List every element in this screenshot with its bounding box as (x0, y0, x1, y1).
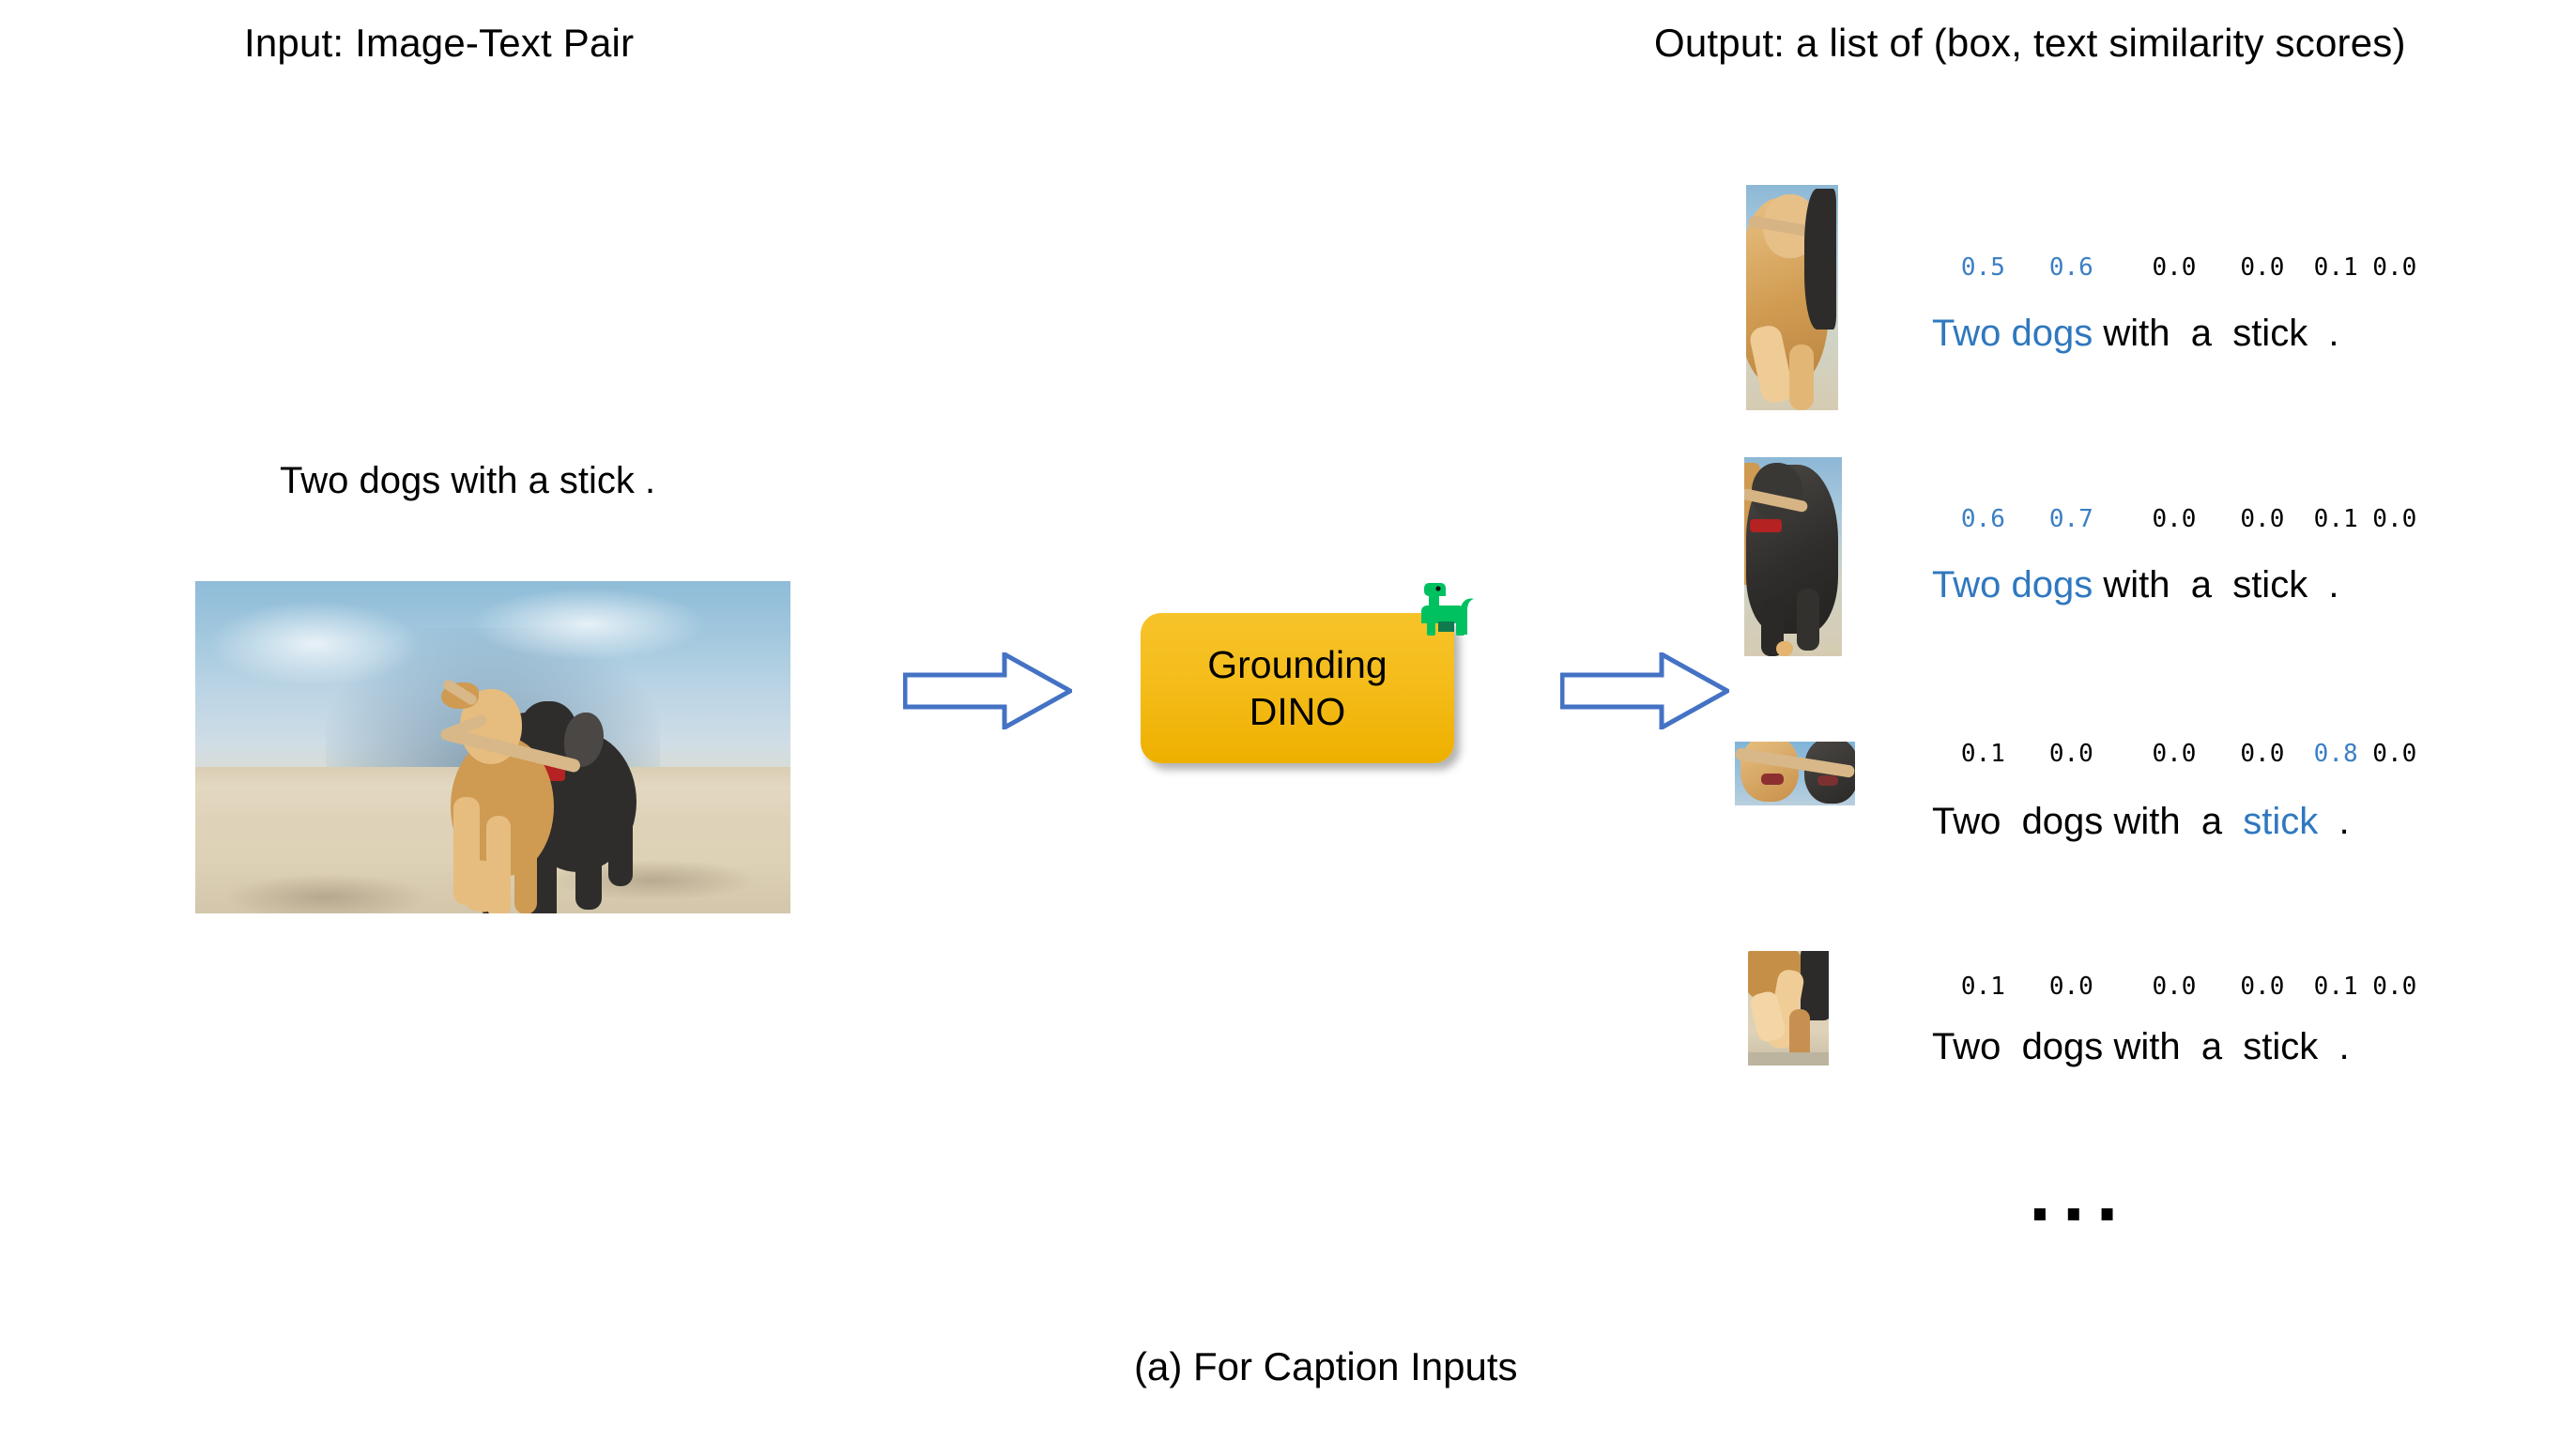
token: with (2113, 1026, 2180, 1067)
token: a (2191, 564, 2212, 606)
row-tokens: Two dogs with a stick . (1870, 270, 2339, 397)
row-tokens: Two dogs with a stick . (1870, 984, 2350, 1111)
token: dogs (2022, 801, 2104, 842)
token: stick (2243, 1026, 2318, 1067)
score-cell: 0.0 (2372, 505, 2416, 533)
token: Two (1932, 313, 2001, 354)
token: a (2201, 801, 2222, 842)
token: Two (1932, 1026, 2001, 1067)
token: dogs (2022, 1026, 2104, 1067)
box-crop-thumbnail[interactable] (1744, 457, 1842, 656)
token: stick (2232, 564, 2308, 606)
token: Two (1932, 801, 2001, 842)
token: . (2339, 801, 2350, 842)
model-name-line2: DINO (1250, 688, 1346, 735)
token: with (2103, 564, 2170, 606)
input-image (195, 581, 790, 913)
score-cell: 0.0 (2372, 253, 2416, 282)
model-name-line1: Grounding (1207, 641, 1387, 688)
arrow-model-to-output (1560, 652, 1729, 729)
token: with (2103, 313, 2170, 354)
output-header: Output: a list of (box, text similarity … (1654, 21, 2406, 66)
score-cell: 0.0 (2372, 740, 2416, 768)
figure-caption: (a) For Caption Inputs (1134, 1344, 1518, 1389)
token: with (2113, 801, 2180, 842)
row-tokens: Two dogs with a stick . (1870, 759, 2350, 885)
input-header: Input: Image-Text Pair (244, 21, 634, 66)
row-tokens: Two dogs with a stick . (1870, 522, 2339, 649)
token: dogs (2011, 313, 2093, 354)
input-caption-text: Two dogs with a stick . (280, 460, 655, 502)
box-crop-thumbnail[interactable] (1748, 951, 1829, 1065)
figure-canvas: Input: Image-Text Pair Output: a list of… (0, 0, 2576, 1441)
token: . (2328, 313, 2338, 354)
token: a (2201, 1026, 2222, 1067)
token: dogs (2011, 564, 2093, 606)
token: Two (1932, 564, 2001, 606)
cloud-icon (207, 601, 422, 687)
token: . (2339, 1026, 2350, 1067)
token: stick (2232, 313, 2308, 354)
cloud-icon (469, 588, 708, 661)
box-crop-thumbnail[interactable] (1746, 185, 1838, 410)
token: stick (2243, 801, 2318, 842)
dinosaur-icon (1416, 575, 1483, 642)
score-cell: 0.0 (2372, 973, 2416, 1001)
token: . (2328, 564, 2338, 606)
arrow-left-to-model (903, 652, 1072, 729)
more-results-ellipsis: ... (2028, 1162, 2129, 1236)
token: a (2191, 313, 2212, 354)
box-crop-thumbnail[interactable] (1735, 742, 1855, 805)
grounding-dino-box[interactable]: Grounding DINO (1141, 613, 1454, 763)
